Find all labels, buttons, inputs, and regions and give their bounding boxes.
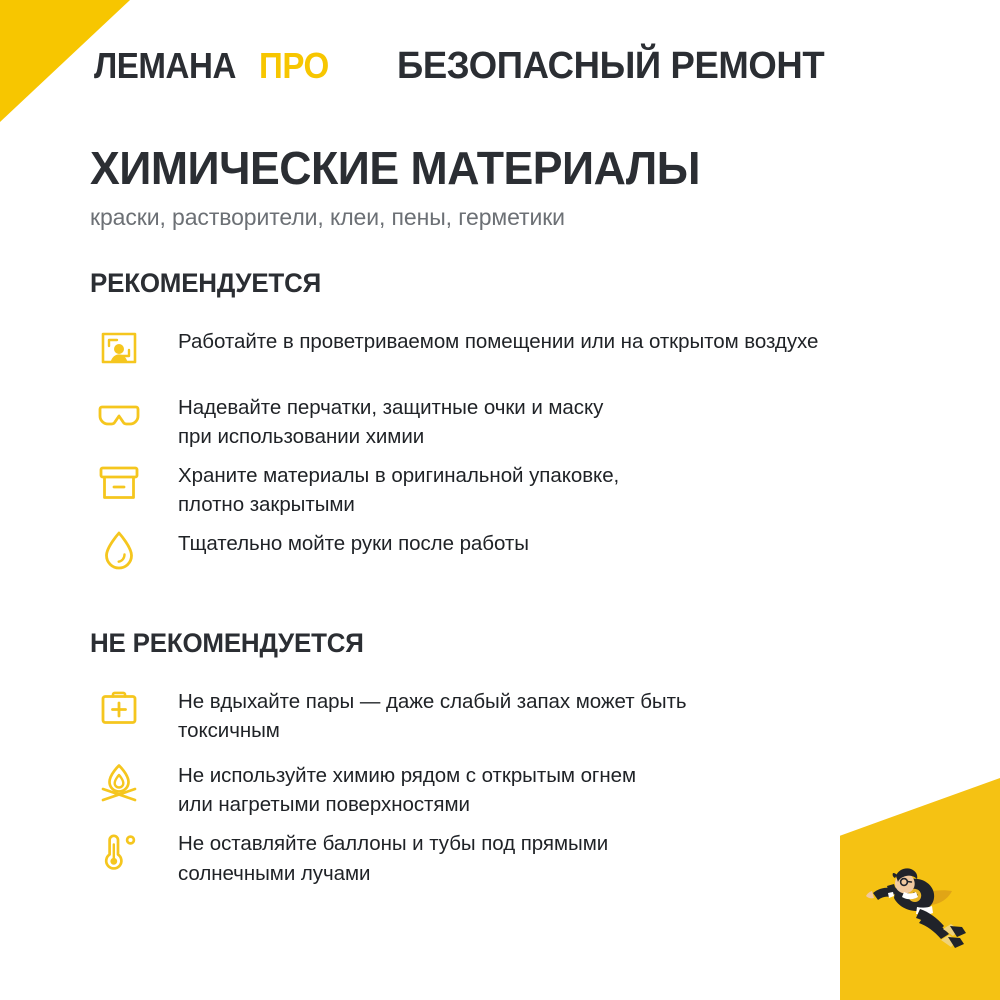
ventilation-window-icon xyxy=(90,321,148,377)
thermometer-sun-icon xyxy=(90,823,148,879)
list-item-text: Надевайте перчатки, защитные очки и маск… xyxy=(178,387,940,451)
not-recommended-list: Не вдыхайте пары — даже слабый запах мож… xyxy=(90,681,940,888)
not-recommended-section: НЕ РЕКОМЕНДУЕТСЯ Не вдыхайте пары — даже… xyxy=(90,628,940,892)
list-item-text: Не вдыхайте пары — даже слабый запах мож… xyxy=(178,681,940,745)
page-subtitle: краски, растворители, клеи, пены, гермет… xyxy=(90,204,940,231)
logo-text-lemana: ЛЕМАНА xyxy=(94,45,236,87)
campfire-icon xyxy=(90,755,148,811)
brand-logo: ЛЕМАНА ПРО xyxy=(94,45,335,87)
recommended-section: РЕКОМЕНДУЕТСЯ Работайте в проветриваемом… xyxy=(90,268,940,589)
header-title: БЕЗОПАСНЫЙ РЕМОНТ xyxy=(397,45,824,88)
logo-text-pro: ПРО xyxy=(259,45,329,87)
list-item: Храните материалы в оригинальной упаковк… xyxy=(90,455,940,519)
list-item-text: Тщательно мойте руки после работы xyxy=(178,523,940,558)
list-item-text: Не оставляйте баллоны и тубы под прямыми… xyxy=(178,823,940,887)
list-item-text: Храните материалы в оригинальной упаковк… xyxy=(178,455,940,519)
first-aid-kit-icon xyxy=(90,681,148,737)
list-item: Надевайте перчатки, защитные очки и маск… xyxy=(90,387,940,451)
water-drop-icon xyxy=(90,523,148,579)
title-block: ХИМИЧЕСКИЕ МАТЕРИАЛЫ краски, растворител… xyxy=(90,144,940,231)
not-recommended-heading: НЕ РЕКОМЕНДУЕТСЯ xyxy=(90,628,906,659)
storage-box-icon xyxy=(90,455,148,511)
page-title: ХИМИЧЕСКИЕ МАТЕРИАЛЫ xyxy=(90,144,915,192)
list-item: Не вдыхайте пары — даже слабый запах мож… xyxy=(90,681,940,745)
list-item: Работайте в проветриваемом помещении или… xyxy=(90,321,940,377)
recommended-heading: РЕКОМЕНДУЕТСЯ xyxy=(90,268,906,299)
flying-hero-mascot xyxy=(846,854,982,958)
list-item: Не оставляйте баллоны и тубы под прямыми… xyxy=(90,823,940,887)
list-item: Не используйте химию рядом с открытым ог… xyxy=(90,755,940,819)
safety-goggles-icon xyxy=(90,387,148,443)
list-item-text: Работайте в проветриваемом помещении или… xyxy=(178,321,940,356)
poster: ЛЕМАНА ПРО БЕЗОПАСНЫЙ РЕМОНТ ХИМИЧЕСКИЕ … xyxy=(0,0,1000,1000)
recommended-list: Работайте в проветриваемом помещении или… xyxy=(90,321,940,579)
list-item-text: Не используйте химию рядом с открытым ог… xyxy=(178,755,940,819)
list-item: Тщательно мойте руки после работы xyxy=(90,523,940,579)
header: ЛЕМАНА ПРО БЕЗОПАСНЫЙ РЕМОНТ xyxy=(94,40,940,92)
